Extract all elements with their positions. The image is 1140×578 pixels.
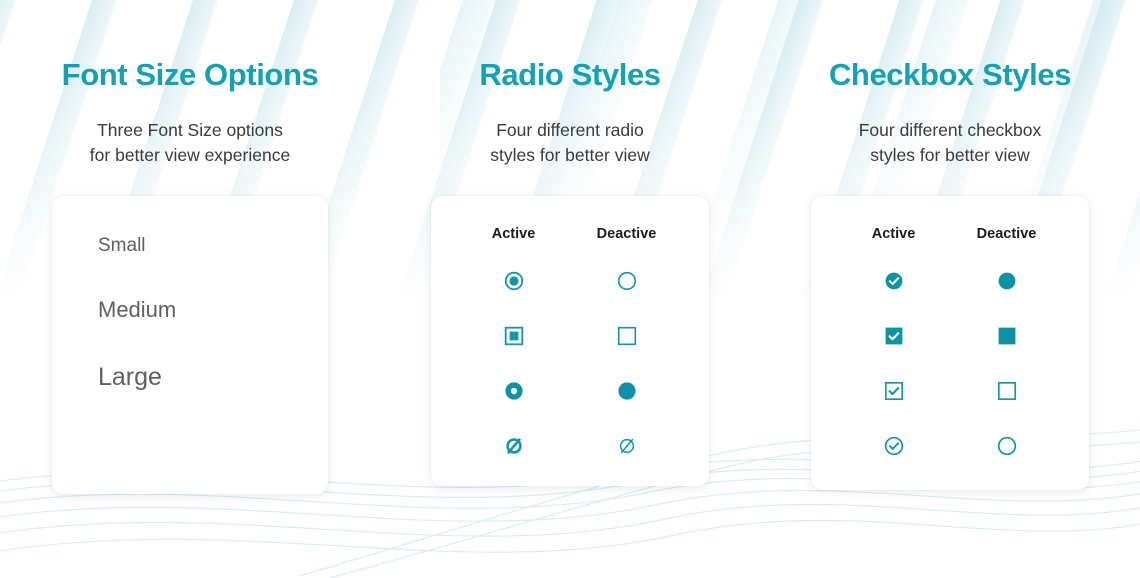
radio-row [431, 321, 709, 351]
checkbox-circle-filled-check-icon[interactable] [883, 270, 905, 292]
column-radio-styles: Radio Styles Four different radio styles… [380, 58, 760, 578]
checkbox-circle-solid-icon[interactable] [996, 270, 1018, 292]
checkbox-circle-outline-icon[interactable] [996, 435, 1018, 457]
radio-square-filled-icon[interactable] [503, 325, 525, 347]
subtitle-line: Three Font Size options [90, 118, 290, 143]
radio-deactive-cell[interactable] [570, 376, 683, 406]
radio-donut-icon[interactable] [503, 380, 525, 402]
subtitle-line: Four different radio [490, 118, 650, 143]
checkbox-square-outline-icon[interactable] [996, 380, 1018, 402]
page-title-font-size: Font Size Options [62, 58, 319, 92]
radio-circle-solid-icon[interactable] [616, 380, 638, 402]
page-title-radio-styles: Radio Styles [479, 58, 660, 92]
checkbox-active-cell[interactable] [837, 431, 950, 461]
page-title-checkbox-styles: Checkbox Styles [829, 58, 1071, 92]
subtitle-line: styles for better view [490, 143, 650, 168]
checkbox-deactive-cell[interactable] [950, 321, 1063, 351]
radio-slashed-circle-bold-icon[interactable] [503, 435, 525, 457]
subtitle-line: Four different checkbox [859, 118, 1042, 143]
subtitle-checkbox-styles: Four different checkbox styles for bette… [859, 118, 1042, 168]
font-size-option-medium[interactable]: Medium [98, 299, 328, 321]
column-checkbox-styles: Checkbox Styles Four different checkbox … [760, 58, 1140, 578]
checkbox-header-deactive: Deactive [950, 226, 1063, 242]
font-size-card: Small Medium Large [52, 196, 328, 494]
radio-row [431, 431, 709, 461]
checkbox-deactive-cell[interactable] [950, 431, 1063, 461]
checkbox-header-active: Active [837, 226, 950, 242]
radio-styles-card: Active Deactive [431, 196, 709, 486]
radio-deactive-cell[interactable] [570, 431, 683, 461]
radio-slashed-circle-thin-icon[interactable] [616, 435, 638, 457]
radio-active-cell[interactable] [457, 321, 570, 351]
checkbox-styles-card: Active Deactive [811, 196, 1089, 490]
checkbox-active-cell[interactable] [837, 266, 950, 296]
subtitle-line: styles for better view [859, 143, 1042, 168]
radio-active-cell[interactable] [457, 431, 570, 461]
column-font-size: Font Size Options Three Font Size option… [0, 58, 380, 578]
radio-header-deactive: Deactive [570, 226, 683, 242]
radio-square-empty-icon[interactable] [616, 325, 638, 347]
subtitle-line: for better view experience [90, 143, 290, 168]
checkbox-circle-outline-check-icon[interactable] [883, 435, 905, 457]
columns-container: Font Size Options Three Font Size option… [0, 0, 1140, 578]
radio-active-cell[interactable] [457, 266, 570, 296]
checkbox-column-headers: Active Deactive [811, 226, 1089, 242]
radio-ring-empty-icon[interactable] [616, 270, 638, 292]
checkbox-deactive-cell[interactable] [950, 266, 1063, 296]
checkbox-row [811, 321, 1089, 351]
radio-header-active: Active [457, 226, 570, 242]
radio-column-headers: Active Deactive [431, 226, 709, 242]
checkbox-active-cell[interactable] [837, 376, 950, 406]
checkbox-active-cell[interactable] [837, 321, 950, 351]
checkbox-square-filled-check-icon[interactable] [883, 325, 905, 347]
radio-row [431, 266, 709, 296]
checkbox-row [811, 266, 1089, 296]
checkbox-deactive-cell[interactable] [950, 376, 1063, 406]
radio-deactive-cell[interactable] [570, 321, 683, 351]
subtitle-radio-styles: Four different radio styles for better v… [490, 118, 650, 168]
subtitle-font-size: Three Font Size options for better view … [90, 118, 290, 168]
radio-deactive-cell[interactable] [570, 266, 683, 296]
checkbox-row [811, 376, 1089, 406]
checkbox-square-outline-check-icon[interactable] [883, 380, 905, 402]
radio-active-cell[interactable] [457, 376, 570, 406]
radio-ring-dot-icon[interactable] [503, 270, 525, 292]
radio-row [431, 376, 709, 406]
checkbox-square-solid-icon[interactable] [996, 325, 1018, 347]
font-size-option-small[interactable]: Small [98, 236, 328, 255]
font-size-option-large[interactable]: Large [98, 365, 328, 390]
checkbox-row [811, 431, 1089, 461]
